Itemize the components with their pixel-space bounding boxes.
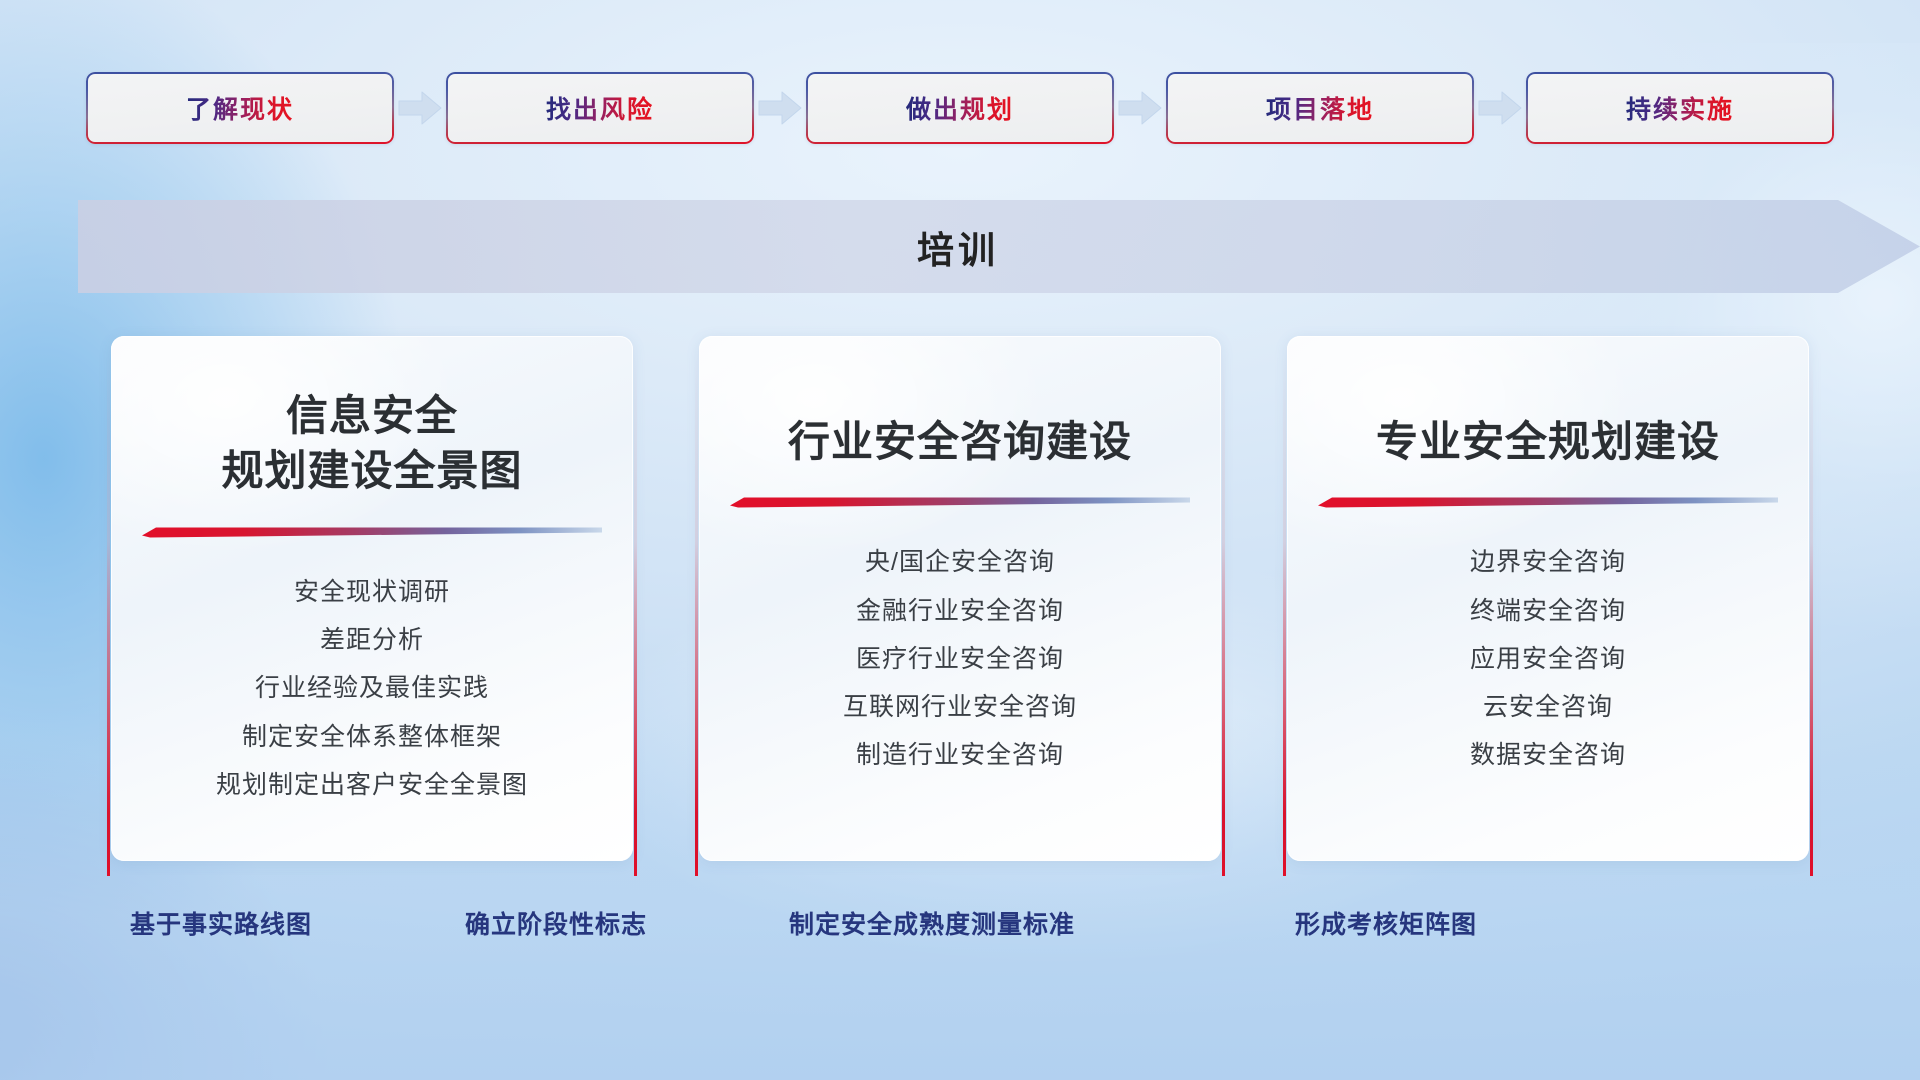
card-title-line: 信息安全	[111, 388, 633, 443]
training-banner: 培训	[78, 200, 1920, 293]
card-left-accent-strip	[107, 354, 110, 876]
card-right-accent-strip	[634, 354, 637, 876]
card-list-item[interactable]: 行业经验及最佳实践	[255, 670, 489, 706]
card-list-item[interactable]: 终端安全咨询	[1470, 593, 1626, 629]
process-step-label: 了解现状	[186, 90, 294, 126]
footer-label-1: 基于事实路线图	[130, 905, 312, 941]
card-body: 信息安全规划建设全景图 安全现状调研差距分析行业经验及最佳实践制定安全体系整体框…	[111, 336, 633, 861]
card-body: 专业安全规划建设 边界安全咨询终端安全咨询应用安全咨询云安全咨询数据安全咨询	[1287, 336, 1809, 861]
process-flow-row: 了解现状 找出风险 做出规划 项目落地 持续实施	[0, 72, 1920, 144]
card-list-item[interactable]: 医疗行业安全咨询	[856, 641, 1064, 677]
process-step-2[interactable]: 找出风险	[446, 72, 754, 144]
card-item-list: 安全现状调研差距分析行业经验及最佳实践制定安全体系整体框架规划制定出客户安全全景…	[111, 574, 633, 803]
cards-row: 信息安全规划建设全景图 安全现状调研差距分析行业经验及最佳实践制定安全体系整体框…	[0, 336, 1920, 876]
process-arrow-right-icon	[1114, 72, 1166, 144]
card-list-item[interactable]: 制造行业安全咨询	[856, 737, 1064, 773]
card-list-item[interactable]: 应用安全咨询	[1470, 641, 1626, 677]
card-accent-rule	[142, 525, 602, 538]
card-body: 行业安全咨询建设 央/国企安全咨询金融行业安全咨询医疗行业安全咨询互联网行业安全…	[699, 336, 1221, 861]
card-list-item[interactable]: 差距分析	[320, 622, 424, 658]
process-step-1[interactable]: 了解现状	[86, 72, 394, 144]
card-title-line: 专业安全规划建设	[1287, 414, 1809, 469]
card-list-item[interactable]: 数据安全咨询	[1470, 737, 1626, 773]
card-title-line: 行业安全咨询建设	[699, 414, 1221, 469]
footer-label-4: 形成考核矩阵图	[1295, 905, 1477, 941]
process-step-label: 找出风险	[546, 90, 654, 126]
card-item-list: 边界安全咨询终端安全咨询应用安全咨询云安全咨询数据安全咨询	[1287, 544, 1809, 773]
footer-labels-row: 基于事实路线图确立阶段性标志制定安全成熟度测量标准形成考核矩阵图	[0, 905, 1920, 965]
card-item-list: 央/国企安全咨询金融行业安全咨询医疗行业安全咨询互联网行业安全咨询制造行业安全咨…	[699, 544, 1221, 773]
card-right-accent-strip	[1810, 354, 1813, 876]
process-arrow-right-icon	[394, 72, 446, 144]
card-right-accent-strip	[1222, 354, 1225, 876]
process-step-3[interactable]: 做出规划	[806, 72, 1114, 144]
card-list-item[interactable]: 互联网行业安全咨询	[843, 689, 1077, 725]
process-step-label: 项目落地	[1266, 90, 1374, 126]
card-list-item[interactable]: 金融行业安全咨询	[856, 593, 1064, 629]
banner-title: 培训	[78, 200, 1838, 293]
process-arrow-right-icon	[1474, 72, 1526, 144]
card-title: 信息安全规划建设全景图	[111, 388, 633, 499]
card-left-accent-strip	[1283, 354, 1286, 876]
card-accent-rule	[1318, 495, 1778, 508]
card-title-line: 规划建设全景图	[111, 443, 633, 498]
card-left-accent-strip	[695, 354, 698, 876]
process-step-4[interactable]: 项目落地	[1166, 72, 1474, 144]
card-1[interactable]: 信息安全规划建设全景图 安全现状调研差距分析行业经验及最佳实践制定安全体系整体框…	[107, 336, 637, 876]
process-step-label: 做出规划	[906, 90, 1014, 126]
card-accent-rule	[730, 495, 1190, 508]
footer-label-3: 制定安全成熟度测量标准	[789, 905, 1075, 941]
footer-label-2: 确立阶段性标志	[465, 905, 647, 941]
card-2[interactable]: 行业安全咨询建设 央/国企安全咨询金融行业安全咨询医疗行业安全咨询互联网行业安全…	[695, 336, 1225, 876]
card-list-item[interactable]: 央/国企安全咨询	[865, 544, 1055, 580]
process-step-label: 持续实施	[1626, 90, 1734, 126]
process-step-5[interactable]: 持续实施	[1526, 72, 1834, 144]
process-arrow-right-icon	[754, 72, 806, 144]
card-list-item[interactable]: 规划制定出客户安全全景图	[216, 767, 528, 803]
card-list-item[interactable]: 边界安全咨询	[1470, 544, 1626, 580]
card-list-item[interactable]: 制定安全体系整体框架	[242, 719, 502, 755]
card-title: 专业安全规划建设	[1287, 414, 1809, 469]
card-3[interactable]: 专业安全规划建设 边界安全咨询终端安全咨询应用安全咨询云安全咨询数据安全咨询	[1283, 336, 1813, 876]
card-list-item[interactable]: 安全现状调研	[294, 574, 450, 610]
card-title: 行业安全咨询建设	[699, 414, 1221, 469]
card-list-item[interactable]: 云安全咨询	[1483, 689, 1613, 725]
